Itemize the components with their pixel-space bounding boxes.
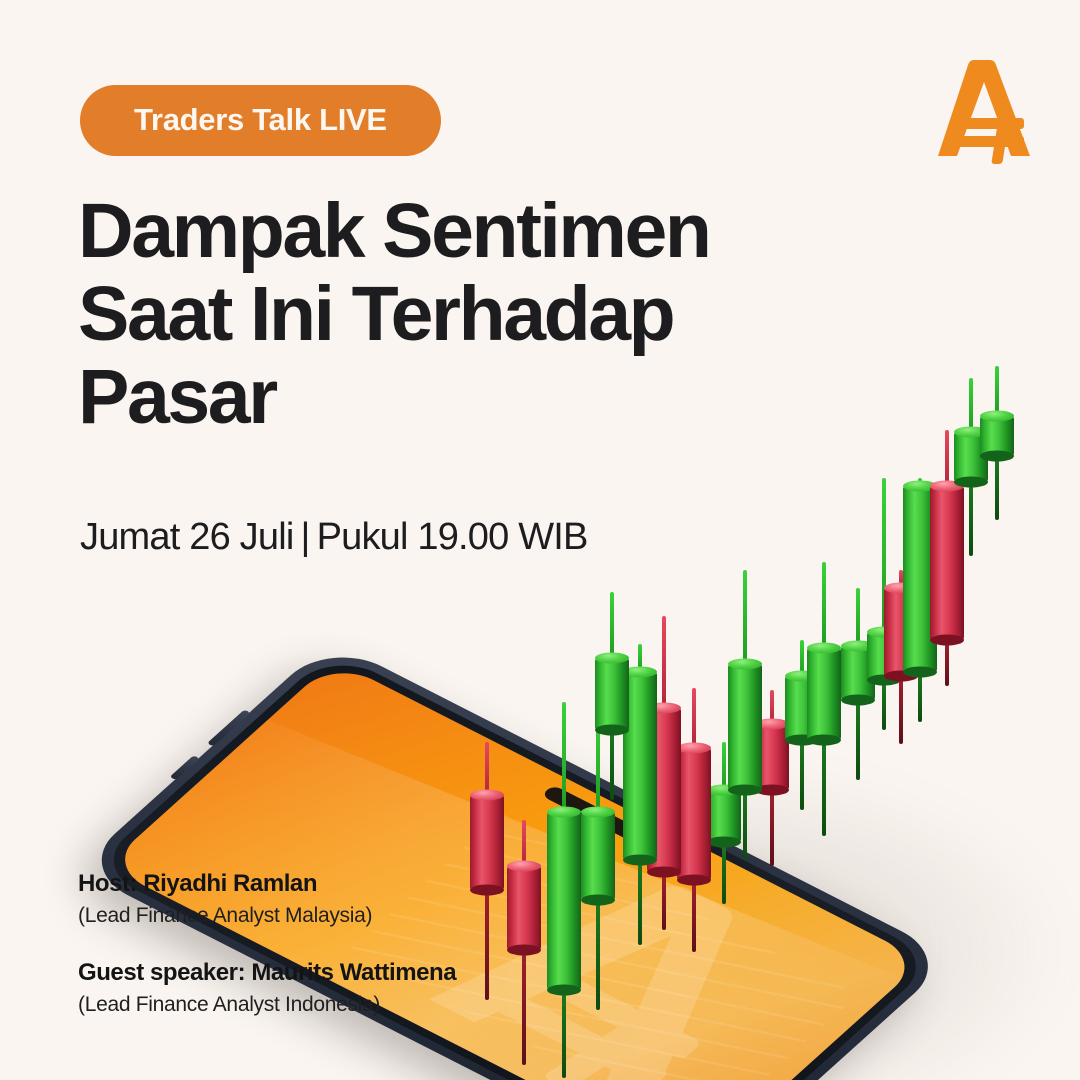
brand-logo-icon bbox=[930, 52, 1038, 164]
candle-body-tube bbox=[980, 416, 1014, 456]
candle-body-bottom-cap bbox=[954, 477, 988, 488]
host-role: (Lead Finance Analyst Malaysia) bbox=[78, 902, 456, 930]
candlestick bbox=[954, 378, 988, 556]
candle-upper-wick bbox=[899, 570, 903, 588]
candle-body bbox=[980, 416, 1014, 456]
candle-body-top-cap bbox=[930, 481, 964, 492]
headline-line-3: Pasar bbox=[78, 356, 838, 439]
credits-block: Host: Riyadhi Ramlan (Lead Finance Analy… bbox=[78, 868, 456, 1045]
host-name: Host: Riyadhi Ramlan bbox=[78, 868, 456, 899]
guest-name: Guest speaker: Maurits Wattimena bbox=[78, 957, 456, 988]
headline-line-1: Dampak Sentimen bbox=[78, 190, 838, 273]
candle-body bbox=[954, 432, 988, 482]
candle-body-tube bbox=[954, 432, 988, 482]
event-date: Jumat 26 Juli bbox=[80, 516, 293, 558]
candle-upper-wick bbox=[969, 378, 973, 432]
candle-body-top-cap bbox=[884, 583, 918, 594]
event-time: Pukul 19.00 WIB bbox=[317, 516, 588, 558]
headline-line-2: Saat Ini Terhadap bbox=[78, 273, 838, 356]
page-title: Dampak Sentimen Saat Ini Terhadap Pasar bbox=[78, 190, 838, 439]
candle-upper-wick bbox=[918, 478, 922, 486]
candle-body-top-cap bbox=[980, 411, 1014, 422]
traders-talk-live-badge[interactable]: Traders Talk LIVE bbox=[80, 85, 441, 156]
datetime-separator: | bbox=[293, 516, 316, 558]
candle-upper-wick bbox=[995, 366, 999, 416]
event-datetime: Jumat 26 Juli|Pukul 19.00 WIB bbox=[80, 516, 588, 559]
candle-upper-wick bbox=[945, 430, 949, 486]
candle-lower-wick bbox=[969, 482, 973, 556]
candle-body-top-cap bbox=[903, 481, 937, 492]
host-credit: Host: Riyadhi Ramlan (Lead Finance Analy… bbox=[78, 868, 456, 931]
guest-role: (Lead Finance Analyst Indonesia) bbox=[78, 991, 456, 1019]
candle-body-top-cap bbox=[954, 427, 988, 438]
guest-credit: Guest speaker: Maurits Wattimena (Lead F… bbox=[78, 957, 456, 1020]
candlestick bbox=[980, 366, 1014, 520]
candle-body-bottom-cap bbox=[980, 451, 1014, 462]
poster-canvas: Traders Talk LIVE Dampak Sentimen Saat I… bbox=[0, 0, 1080, 1080]
candle-lower-wick bbox=[995, 456, 999, 520]
